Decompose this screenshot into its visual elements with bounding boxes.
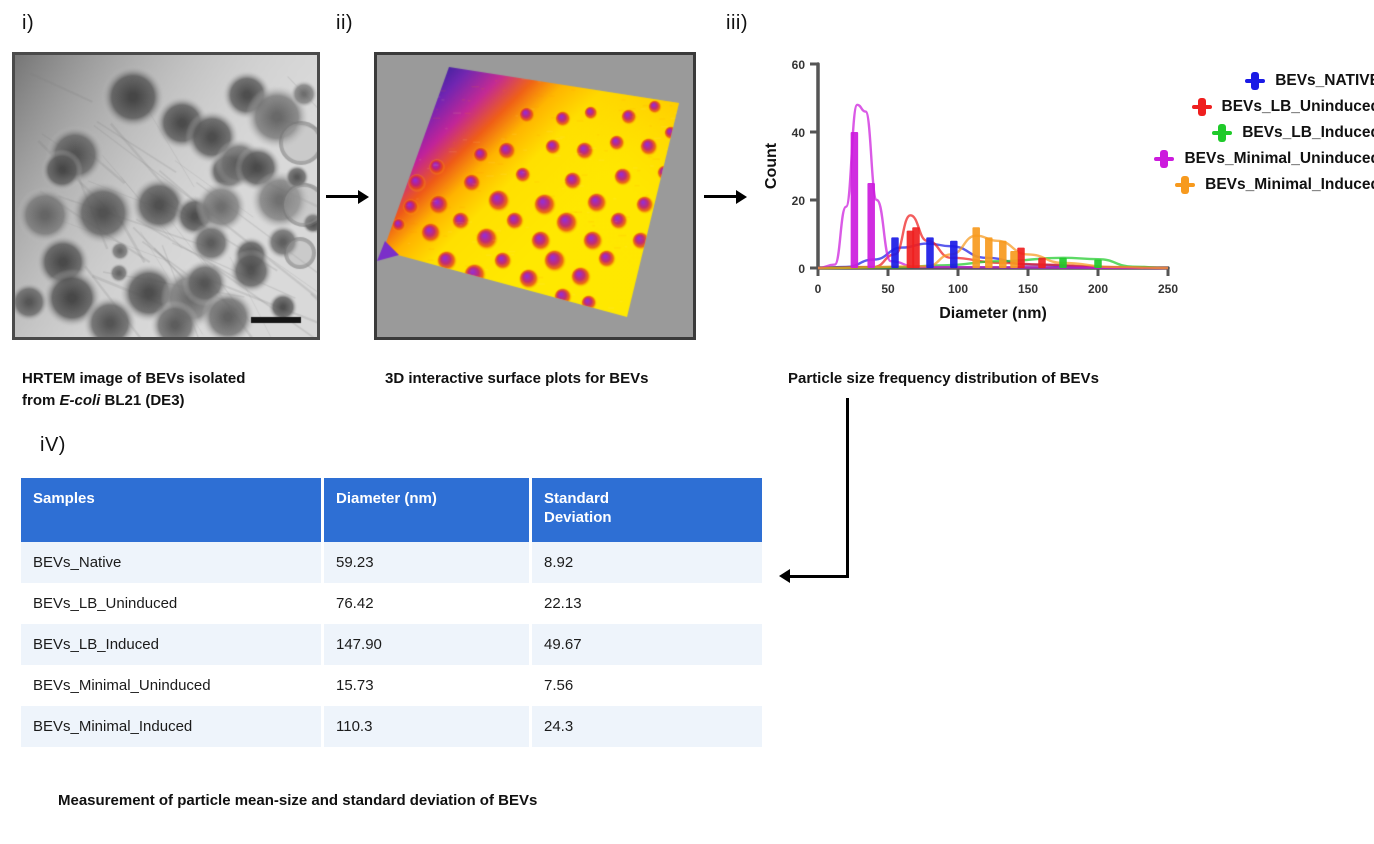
y-tick-label: 20 bbox=[792, 194, 806, 208]
series-bar-4-1 bbox=[985, 237, 993, 268]
arrow-head bbox=[358, 190, 369, 204]
table-cell-standard-deviation: 49.67 bbox=[532, 624, 762, 665]
table-cell-diameter: 59.23 bbox=[324, 542, 529, 583]
arrow-head bbox=[779, 569, 790, 583]
legend-item-1[interactable]: BEVs_LB_Uninduced bbox=[1060, 94, 1374, 120]
series-bar-3-0 bbox=[851, 132, 859, 268]
caption-i-line2: from E-coli BL21 (DE3) bbox=[22, 390, 322, 412]
x-tick-label: 150 bbox=[1018, 282, 1038, 296]
table-cell-standard-deviation: 7.56 bbox=[532, 665, 762, 706]
table-cell-standard-deviation: 22.13 bbox=[532, 583, 762, 624]
table-cell-diameter: 110.3 bbox=[324, 706, 529, 747]
arrow-vertical-shaft bbox=[846, 398, 849, 578]
table-row: BEVs_Minimal_Uninduced15.737.56 bbox=[21, 665, 762, 706]
legend-label: BEVs_LB_Uninduced bbox=[1222, 98, 1374, 116]
legend-label: BEVs_NATIVE bbox=[1275, 72, 1374, 90]
afm-3d-surface-plot bbox=[374, 52, 696, 340]
x-tick-label: 200 bbox=[1088, 282, 1108, 296]
header-sd-line1: Standard bbox=[544, 490, 752, 509]
x-tick-label: 50 bbox=[881, 282, 895, 296]
x-tick-label: 100 bbox=[948, 282, 968, 296]
legend-item-3[interactable]: BEVs_Minimal_Uninduced bbox=[1060, 146, 1374, 172]
table-cell-diameter: 76.42 bbox=[324, 583, 529, 624]
series-bar-0-1 bbox=[926, 237, 934, 268]
legend-item-0[interactable]: BEVs_NATIVE bbox=[1060, 68, 1374, 94]
legend-marker-icon bbox=[1212, 123, 1232, 143]
x-axis-label: Diameter (nm) bbox=[939, 305, 1047, 322]
series-bar-1-2 bbox=[1017, 248, 1025, 268]
series-bar-0-0 bbox=[891, 237, 899, 268]
table-cell-sample: BEVs_Native bbox=[21, 542, 321, 583]
table-header-standard-deviation: Standard Deviation bbox=[532, 478, 762, 542]
table-cell-sample: BEVs_LB_Induced bbox=[21, 624, 321, 665]
caption-i-post: BL21 (DE3) bbox=[100, 392, 184, 409]
legend-marker-icon bbox=[1245, 71, 1265, 91]
chart-legend: BEVs_NATIVEBEVs_LB_UninducedBEVs_LB_Indu… bbox=[1060, 68, 1374, 198]
table-header-samples: Samples bbox=[21, 478, 321, 542]
caption-i-line1: HRTEM image of BEVs isolated bbox=[22, 368, 322, 390]
legend-marker-icon bbox=[1175, 175, 1195, 195]
caption-i-species: E-coli bbox=[60, 392, 101, 409]
legend-marker-icon bbox=[1192, 97, 1212, 117]
table-row: BEVs_Native59.238.92 bbox=[21, 542, 762, 583]
measurements-table: Samples Diameter (nm) Standard Deviation… bbox=[18, 478, 756, 747]
afm-canvas bbox=[377, 55, 693, 337]
series-bar-2-0 bbox=[1059, 258, 1067, 268]
series-bar-2-1 bbox=[1094, 260, 1102, 269]
table-row: BEVs_LB_Induced147.9049.67 bbox=[21, 624, 762, 665]
series-bar-4-0 bbox=[972, 227, 980, 268]
caption-i-pre: from bbox=[22, 392, 60, 409]
hrtem-image bbox=[12, 52, 320, 340]
table-row: BEVs_LB_Uninduced76.4222.13 bbox=[21, 583, 762, 624]
table-cell-sample: BEVs_Minimal_Induced bbox=[21, 706, 321, 747]
caption-panel-iii: Particle size frequency distribution of … bbox=[788, 368, 1208, 390]
series-bar-4-2 bbox=[999, 241, 1007, 268]
caption-panel-ii: 3D interactive surface plots for BEVs bbox=[385, 368, 715, 390]
hrtem-canvas bbox=[15, 55, 317, 337]
table-header-row: Samples Diameter (nm) Standard Deviation bbox=[21, 478, 762, 542]
y-tick-label: 0 bbox=[798, 262, 805, 276]
arrow-horizontal-shaft bbox=[790, 575, 849, 578]
arrow-shaft bbox=[704, 195, 738, 198]
series-bar-1-3 bbox=[1038, 258, 1046, 268]
arrow-chart-to-table bbox=[778, 398, 858, 588]
arrow-tem-to-afm bbox=[326, 190, 370, 204]
table-row: BEVs_Minimal_Induced110.324.3 bbox=[21, 706, 762, 747]
legend-label: BEVs_LB_Induced bbox=[1242, 124, 1374, 142]
table: Samples Diameter (nm) Standard Deviation… bbox=[18, 478, 765, 747]
series-bar-1-1 bbox=[912, 227, 920, 268]
panel-label-iii: iii) bbox=[726, 12, 748, 35]
y-tick-label: 40 bbox=[792, 126, 806, 140]
table-cell-diameter: 15.73 bbox=[324, 665, 529, 706]
table-cell-diameter: 147.90 bbox=[324, 624, 529, 665]
legend-item-4[interactable]: BEVs_Minimal_Induced bbox=[1060, 172, 1374, 198]
caption-panel-iv: Measurement of particle mean-size and st… bbox=[58, 790, 537, 812]
legend-marker-icon bbox=[1154, 149, 1174, 169]
panel-label-i: i) bbox=[22, 12, 34, 35]
table-cell-standard-deviation: 8.92 bbox=[532, 542, 762, 583]
table-cell-sample: BEVs_LB_Uninduced bbox=[21, 583, 321, 624]
table-header-diameter: Diameter (nm) bbox=[324, 478, 529, 542]
y-axis-label: Count bbox=[763, 142, 780, 189]
header-sd-line2: Deviation bbox=[544, 509, 752, 528]
series-bar-4-3 bbox=[1010, 251, 1018, 268]
series-bar-0-2 bbox=[950, 241, 958, 268]
legend-item-2[interactable]: BEVs_LB_Induced bbox=[1060, 120, 1374, 146]
caption-panel-i: HRTEM image of BEVs isolated from E-coli… bbox=[22, 368, 322, 412]
arrow-shaft bbox=[326, 195, 360, 198]
legend-label: BEVs_Minimal_Uninduced bbox=[1184, 150, 1374, 168]
y-tick-label: 60 bbox=[792, 58, 806, 72]
x-tick-label: 0 bbox=[815, 282, 822, 296]
series-bar-3-1 bbox=[867, 183, 875, 268]
legend-label: BEVs_Minimal_Induced bbox=[1205, 176, 1374, 194]
table-cell-sample: BEVs_Minimal_Uninduced bbox=[21, 665, 321, 706]
arrow-afm-to-chart bbox=[704, 190, 750, 204]
arrow-head bbox=[736, 190, 747, 204]
table-cell-standard-deviation: 24.3 bbox=[532, 706, 762, 747]
panel-label-ii: ii) bbox=[336, 12, 353, 35]
x-tick-label: 250 bbox=[1158, 282, 1178, 296]
panel-label-iv: iV) bbox=[40, 434, 66, 457]
